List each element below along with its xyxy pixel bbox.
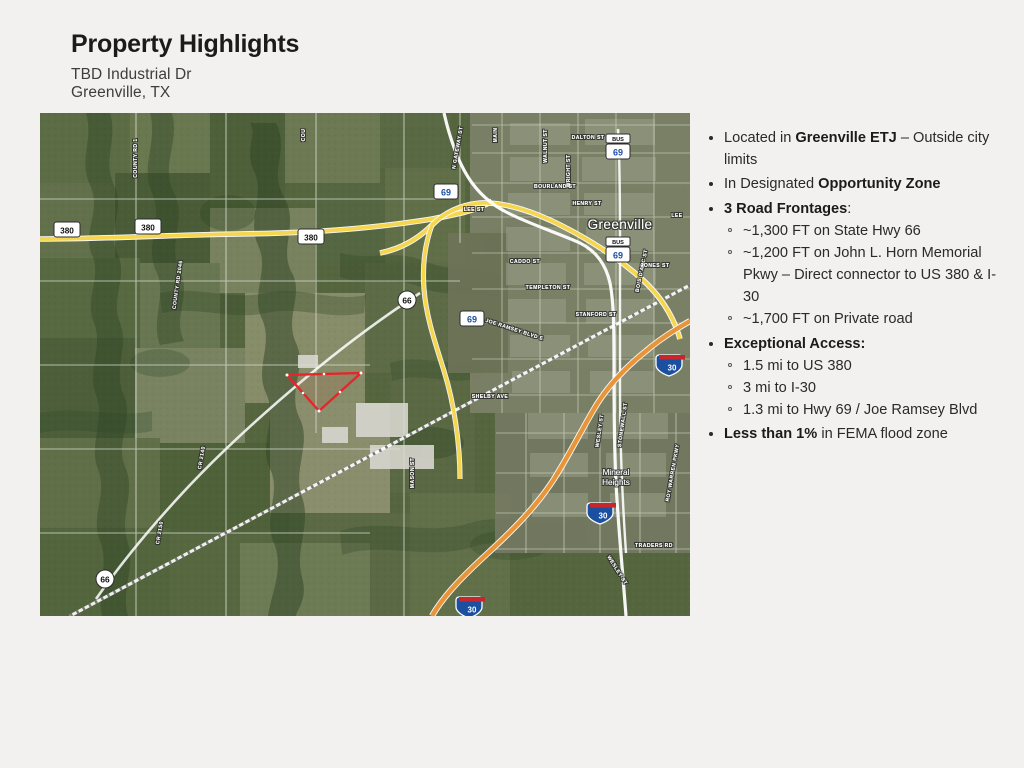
map-svg: Greenville Mineral Heights COUNTY RD 1 C… [40,113,690,616]
property-address-line-1: TBD Industrial Dr [71,66,591,84]
highlight-item-road-frontages: 3 Road Frontages:~1,300 FT on State Hwy … [707,198,1007,331]
highlight-item-exceptional-access: Exceptional Access:1.5 mi to US 3803 mi … [707,333,1007,422]
svg-text:66: 66 [100,575,110,585]
svg-text:CADDO ST: CADDO ST [510,259,541,265]
svg-text:BUS: BUS [612,240,624,246]
svg-text:BUS: BUS [612,137,624,143]
svg-text:LEE ST: LEE ST [464,207,485,213]
highlight-sublist-road-frontages: ~1,300 FT on State Hwy 66~1,200 FT on Jo… [724,220,1007,331]
svg-text:30: 30 [468,606,477,615]
map-city-label: Greenville [588,217,653,232]
shield-bus-69-south: BUS 69 [606,237,630,262]
highlight-text-segment: 3 Road Frontages [724,201,847,217]
svg-text:LEE: LEE [671,213,682,219]
svg-text:69: 69 [441,188,451,198]
highlight-text-segment: Exceptional Access: [724,336,865,352]
highlight-text-segment: in FEMA flood zone [817,426,948,442]
highlight-text-segment: Less than 1% [724,426,817,442]
svg-text:30: 30 [599,512,608,521]
svg-text:69: 69 [613,251,623,261]
highlights-level-1: Located in Greenville ETJ – Outside city… [707,127,1007,445]
highlight-sublist-exceptional-access: 1.5 mi to US 3803 mi to I-301.3 mi to Hw… [724,355,1007,422]
svg-text:WALNUT ST: WALNUT ST [543,129,549,163]
highlight-text-segment: Located in [724,130,795,146]
svg-text:COUNTY RD 1: COUNTY RD 1 [133,138,139,177]
svg-text:COU: COU [301,129,307,142]
highlight-text-segment: Opportunity Zone [818,176,940,192]
svg-text:WRIGHT ST: WRIGHT ST [566,154,572,187]
highlight-subitem: 3 mi to I-30 [724,377,1007,399]
highlight-text-segment: : [847,201,851,217]
highlight-subitem: ~1,200 FT on John L. Horn Memorial Pkwy … [724,242,1007,309]
shield-us-380-west: 380 [54,222,80,237]
highlight-item-etj: Located in Greenville ETJ – Outside city… [707,127,1007,171]
svg-text:DALTON ST: DALTON ST [572,135,605,141]
svg-text:TRADERS RD: TRADERS RD [635,543,673,549]
svg-text:30: 30 [668,364,677,373]
svg-text:MASON ST: MASON ST [410,457,416,488]
svg-text:BOURLAND ST: BOURLAND ST [534,184,576,190]
svg-text:MAIN: MAIN [493,128,499,143]
svg-text:HENRY ST: HENRY ST [572,201,602,207]
shield-bus-69-north: BUS 69 [606,134,630,159]
svg-text:69: 69 [613,148,623,158]
svg-text:69: 69 [467,315,477,325]
property-highlights-list: Located in Greenville ETJ – Outside city… [707,127,1007,447]
highlight-subitem: ~1,700 FT on Private road [724,308,1007,330]
highlight-subitem: ~1,300 FT on State Hwy 66 [724,220,1007,242]
svg-text:66: 66 [402,296,412,306]
svg-text:STANFORD ST: STANFORD ST [576,312,617,318]
shield-state-66-north: 66 [398,291,416,309]
shield-us-380-mid: 380 [135,219,161,234]
highlight-subitem: 1.5 mi to US 380 [724,355,1007,377]
svg-text:380: 380 [141,224,155,233]
highlight-item-opportunity-zone: In Designated Opportunity Zone [707,173,1007,195]
property-location-map[interactable]: Greenville Mineral Heights COUNTY RD 1 C… [40,113,690,616]
highlight-text-segment: In Designated [724,176,818,192]
map-canvas: Greenville Mineral Heights COUNTY RD 1 C… [40,113,690,616]
page-title: Property Highlights [71,31,591,59]
map-neighborhood-label-2: Heights [602,478,630,487]
highlight-item-flood-zone: Less than 1% in FEMA flood zone [707,423,1007,445]
shield-us-69-north: 69 [434,184,458,199]
header-block: Property Highlights TBD Industrial Dr Gr… [71,31,591,102]
svg-text:380: 380 [304,234,318,243]
svg-text:TEMPLETON ST: TEMPLETON ST [526,285,571,291]
shield-us-380-east: 380 [298,229,324,244]
svg-text:380: 380 [60,227,74,236]
svg-text:SHELBY AVE: SHELBY AVE [472,394,509,400]
highlight-text-segment: Greenville ETJ [795,130,896,146]
shield-state-66-south: 66 [96,570,114,588]
highlight-subitem: 1.3 mi to Hwy 69 / Joe Ramsey Blvd [724,399,1007,421]
shield-us-69-joe-ramsey: 69 [460,311,484,326]
property-address-line-2: Greenville, TX [71,84,591,102]
map-neighborhood-label-1: Mineral [603,468,630,477]
